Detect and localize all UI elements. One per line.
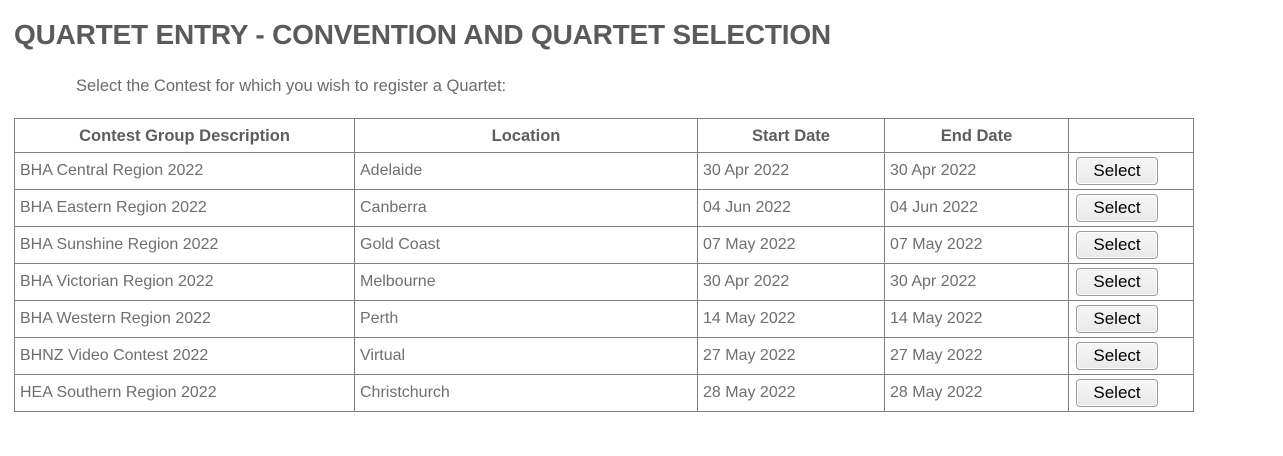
cell-location: Canberra — [355, 190, 698, 227]
column-header-start-date: Start Date — [698, 119, 885, 153]
contest-description-text: BHA Sunshine Region 2022 — [15, 235, 354, 255]
cell-end-date: 14 May 2022 — [885, 301, 1069, 338]
start-date-text: 14 May 2022 — [698, 309, 884, 329]
table-row: HEA Southern Region 2022 Christchurch 28… — [15, 375, 1194, 412]
table-body: BHA Central Region 2022 Adelaide 30 Apr … — [15, 153, 1194, 412]
contest-description-text: BHA Central Region 2022 — [15, 161, 354, 181]
cell-description: BHA Eastern Region 2022 — [15, 190, 355, 227]
cell-start-date: 27 May 2022 — [698, 338, 885, 375]
cell-location: Christchurch — [355, 375, 698, 412]
cell-description: HEA Southern Region 2022 — [15, 375, 355, 412]
start-date-text: 30 Apr 2022 — [698, 161, 884, 181]
end-date-text: 14 May 2022 — [885, 309, 1068, 329]
table-row: BHNZ Video Contest 2022 Virtual 27 May 2… — [15, 338, 1194, 375]
table-row: BHA Central Region 2022 Adelaide 30 Apr … — [15, 153, 1194, 190]
table-header-row: Contest Group Description Location Start… — [15, 119, 1194, 153]
end-date-text: 30 Apr 2022 — [885, 161, 1068, 181]
cell-start-date: 30 Apr 2022 — [698, 153, 885, 190]
cell-end-date: 07 May 2022 — [885, 227, 1069, 264]
quartet-entry-page: QUARTET ENTRY - CONVENTION AND QUARTET S… — [0, 0, 1283, 456]
select-button[interactable]: Select — [1076, 379, 1158, 407]
cell-description: BHA Sunshine Region 2022 — [15, 227, 355, 264]
select-button[interactable]: Select — [1076, 194, 1158, 222]
location-text: Adelaide — [355, 161, 697, 181]
cell-location: Melbourne — [355, 264, 698, 301]
cell-description: BHA Western Region 2022 — [15, 301, 355, 338]
start-date-text: 27 May 2022 — [698, 346, 884, 366]
end-date-text: 30 Apr 2022 — [885, 272, 1068, 292]
select-button[interactable]: Select — [1076, 157, 1158, 185]
column-header-end-date: End Date — [885, 119, 1069, 153]
select-button[interactable]: Select — [1076, 342, 1158, 370]
column-header-description: Contest Group Description — [15, 119, 355, 153]
contest-selection-table: Contest Group Description Location Start… — [14, 118, 1194, 412]
start-date-text: 04 Jun 2022 — [698, 198, 884, 218]
cell-end-date: 27 May 2022 — [885, 338, 1069, 375]
cell-end-date: 30 Apr 2022 — [885, 153, 1069, 190]
cell-action: Select — [1069, 338, 1194, 375]
cell-start-date: 04 Jun 2022 — [698, 190, 885, 227]
intro-instruction-text: Select the Contest for which you wish to… — [76, 75, 506, 97]
cell-start-date: 14 May 2022 — [698, 301, 885, 338]
cell-action: Select — [1069, 301, 1194, 338]
contest-table-container: Contest Group Description Location Start… — [14, 118, 1193, 412]
contest-description-text: BHA Victorian Region 2022 — [15, 272, 354, 292]
table-row: BHA Western Region 2022 Perth 14 May 202… — [15, 301, 1194, 338]
table-row: BHA Victorian Region 2022 Melbourne 30 A… — [15, 264, 1194, 301]
page-title: QUARTET ENTRY - CONVENTION AND QUARTET S… — [14, 17, 831, 53]
contest-description-text: BHNZ Video Contest 2022 — [15, 346, 354, 366]
location-text: Virtual — [355, 346, 697, 366]
location-text: Perth — [355, 309, 697, 329]
cell-end-date: 30 Apr 2022 — [885, 264, 1069, 301]
cell-location: Virtual — [355, 338, 698, 375]
cell-end-date: 28 May 2022 — [885, 375, 1069, 412]
cell-action: Select — [1069, 153, 1194, 190]
cell-action: Select — [1069, 264, 1194, 301]
start-date-text: 28 May 2022 — [698, 383, 884, 403]
contest-description-text: HEA Southern Region 2022 — [15, 383, 354, 403]
column-header-location: Location — [355, 119, 698, 153]
table-header: Contest Group Description Location Start… — [15, 119, 1194, 153]
cell-end-date: 04 Jun 2022 — [885, 190, 1069, 227]
start-date-text: 07 May 2022 — [698, 235, 884, 255]
start-date-text: 30 Apr 2022 — [698, 272, 884, 292]
end-date-text: 27 May 2022 — [885, 346, 1068, 366]
location-text: Christchurch — [355, 383, 697, 403]
cell-location: Gold Coast — [355, 227, 698, 264]
cell-action: Select — [1069, 227, 1194, 264]
cell-action: Select — [1069, 190, 1194, 227]
location-text: Melbourne — [355, 272, 697, 292]
cell-start-date: 28 May 2022 — [698, 375, 885, 412]
cell-location: Adelaide — [355, 153, 698, 190]
location-text: Canberra — [355, 198, 697, 218]
cell-location: Perth — [355, 301, 698, 338]
select-button[interactable]: Select — [1076, 305, 1158, 333]
contest-description-text: BHA Western Region 2022 — [15, 309, 354, 329]
select-button[interactable]: Select — [1076, 268, 1158, 296]
column-header-action — [1069, 119, 1194, 153]
cell-description: BHNZ Video Contest 2022 — [15, 338, 355, 375]
cell-description: BHA Victorian Region 2022 — [15, 264, 355, 301]
end-date-text: 04 Jun 2022 — [885, 198, 1068, 218]
cell-start-date: 07 May 2022 — [698, 227, 885, 264]
cell-action: Select — [1069, 375, 1194, 412]
end-date-text: 07 May 2022 — [885, 235, 1068, 255]
end-date-text: 28 May 2022 — [885, 383, 1068, 403]
select-button[interactable]: Select — [1076, 231, 1158, 259]
cell-description: BHA Central Region 2022 — [15, 153, 355, 190]
table-row: BHA Sunshine Region 2022 Gold Coast 07 M… — [15, 227, 1194, 264]
table-row: BHA Eastern Region 2022 Canberra 04 Jun … — [15, 190, 1194, 227]
location-text: Gold Coast — [355, 235, 697, 255]
cell-start-date: 30 Apr 2022 — [698, 264, 885, 301]
contest-description-text: BHA Eastern Region 2022 — [15, 198, 354, 218]
